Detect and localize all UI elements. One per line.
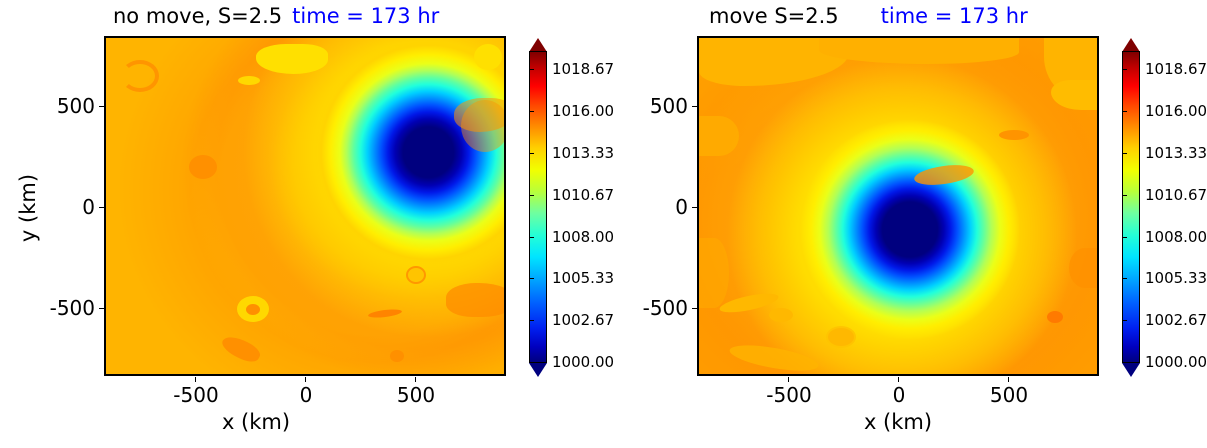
panel-left-xtick-mark-0	[195, 377, 196, 382]
left-colorbar-tick-label-3: 1010.67	[552, 186, 614, 204]
left-colorbar-tick-mark-6	[529, 320, 534, 321]
right-colorbar-tick-label-6: 1002.67	[1145, 311, 1207, 329]
panel-left-xtick-mark-2	[415, 377, 416, 382]
panel-left-blob-7	[246, 304, 260, 315]
panel-right-ytick-label-0: 500	[623, 94, 688, 118]
left-colorbar-tick-mark-1	[529, 111, 534, 112]
panel-left-pressure-field	[106, 38, 504, 374]
panel-right-ytick-label-2: -500	[623, 296, 688, 320]
right-colorbar-tick-mark-2	[1122, 153, 1127, 154]
right-colorbar-tick-label-5: 1005.33	[1145, 269, 1207, 287]
panel-left-xlabel: x (km)	[222, 410, 290, 434]
panel-left-title-main: no move, S=2.5	[113, 4, 282, 28]
left-colorbar-tick-label-1: 1016.00	[552, 102, 614, 120]
panel-right-xtick-mark-0	[788, 377, 789, 382]
right-colorbar-bar[interactable]	[1122, 51, 1140, 363]
panel-right-pressure-field	[699, 38, 1097, 374]
panel-left-ytick-mark-1	[99, 207, 104, 208]
panel-right-xtick-label-0: -500	[766, 383, 811, 407]
left-colorbar-tick-mark-4	[529, 237, 534, 238]
panel-left-blob-4	[474, 44, 502, 70]
right-colorbar-tick-label-1: 1016.00	[1145, 102, 1207, 120]
right-colorbar-tick-label-0: 1018.67	[1145, 60, 1207, 78]
right-colorbar-extend-bottom-arrow	[1122, 363, 1140, 377]
left-colorbar-tick-mark-3	[529, 195, 534, 196]
panel-right-xtick-mark-1	[898, 377, 899, 382]
panel-right-xtick-label-1: 0	[893, 383, 906, 407]
panel-right-blob-9	[826, 326, 856, 348]
left-colorbar-tick-label-0: 1018.67	[552, 60, 614, 78]
right-colorbar-tick-label-2: 1013.33	[1145, 144, 1207, 162]
panel-left-xtick-label-1: 0	[300, 383, 313, 407]
left-colorbar-extend-top-arrow	[529, 38, 547, 52]
panel-left-blob-11	[406, 266, 426, 284]
right-colorbar-tick-mark-0	[1122, 69, 1127, 70]
panel-left-blob-13	[446, 283, 506, 317]
panel-left-blob-2	[256, 44, 328, 74]
right-colorbar-tick-label-3: 1010.67	[1145, 186, 1207, 204]
panel-right-blob-14	[1069, 248, 1099, 288]
right-colorbar-tick-mark-1	[1122, 111, 1127, 112]
right-colorbar-tick-mark-4	[1122, 237, 1127, 238]
panel-left-ytick-mark-0	[99, 106, 104, 107]
left-colorbar-tick-label-6: 1002.67	[552, 311, 614, 329]
panel-right-blob-8	[769, 308, 793, 322]
left-colorbar-tick-label-2: 1013.33	[552, 144, 614, 162]
left-colorbar-bar[interactable]	[529, 51, 547, 363]
panel-right-xtick-mark-2	[1008, 377, 1009, 382]
panel-right-title-time: time = 173 hr	[881, 4, 1028, 28]
left-colorbar-tick-label-4: 1008.00	[552, 228, 614, 246]
figure: no move, S=2.5time = 173 hr -500 0	[0, 0, 1207, 448]
panel-right-blob-6	[699, 238, 729, 308]
right-colorbar-tick-mark-6	[1122, 320, 1127, 321]
panel-left-blob-9	[390, 350, 404, 362]
panel-left-ytick-label-2: -500	[30, 296, 95, 320]
panel-right-ytick-mark-0	[692, 106, 697, 107]
left-colorbar-extend-bottom-arrow	[529, 363, 547, 377]
panel-right-blob-10	[1047, 311, 1063, 323]
panel-left-ytick-label-0: 500	[30, 94, 95, 118]
right-colorbar-extend-top-arrow	[1122, 38, 1140, 52]
left-colorbar-tick-label-7: 1000.00	[552, 353, 614, 371]
panel-right-ytick-mark-1	[692, 207, 697, 208]
panel-left-title-time: time = 173 hr	[292, 4, 439, 28]
left-colorbar-tick-mark-5	[529, 278, 534, 279]
left-colorbar-tick-mark-2	[529, 153, 534, 154]
panel-right-blob-13	[999, 130, 1029, 140]
right-colorbar-tick-mark-3	[1122, 195, 1127, 196]
left-colorbar-tick-mark-7	[529, 362, 534, 363]
panel-right-blob-5	[699, 116, 739, 156]
left-colorbar-tick-label-5: 1005.33	[552, 269, 614, 287]
right-colorbar-tick-label-4: 1008.00	[1145, 228, 1207, 246]
panel-left-blob-1	[121, 60, 159, 92]
panel-left-ytick-mark-2	[99, 308, 104, 309]
panel-right-xtick-label-2: 500	[990, 383, 1028, 407]
panel-left-plot-area[interactable]	[104, 36, 506, 376]
left-colorbar-tick-mark-0	[529, 69, 534, 70]
panel-left-xtick-mark-1	[305, 377, 306, 382]
panel-right-plot-area[interactable]	[697, 36, 1099, 376]
panel-right-title-main: move S=2.5	[709, 4, 839, 28]
panel-right-xlabel: x (km)	[864, 410, 932, 434]
right-colorbar-tick-label-7: 1000.00	[1145, 353, 1207, 371]
panel-right-ytick-mark-2	[692, 308, 697, 309]
panel-left-xtick-label-0: -500	[173, 383, 218, 407]
panel-left-blob-5	[189, 155, 217, 179]
panel-left-blob-14	[461, 100, 506, 152]
panel-left-title: no move, S=2.5time = 173 hr	[113, 6, 439, 27]
panel-right-title: move S=2.5time = 173 hr	[709, 6, 1028, 27]
panel-left-blob-3	[238, 76, 260, 85]
panel-left-xtick-label-2: 500	[397, 383, 435, 407]
right-colorbar-tick-mark-5	[1122, 278, 1127, 279]
right-colorbar-tick-mark-7	[1122, 362, 1127, 363]
panel-right-ytick-label-1: 0	[623, 195, 688, 219]
panel-left-ylabel: y (km)	[16, 158, 40, 258]
